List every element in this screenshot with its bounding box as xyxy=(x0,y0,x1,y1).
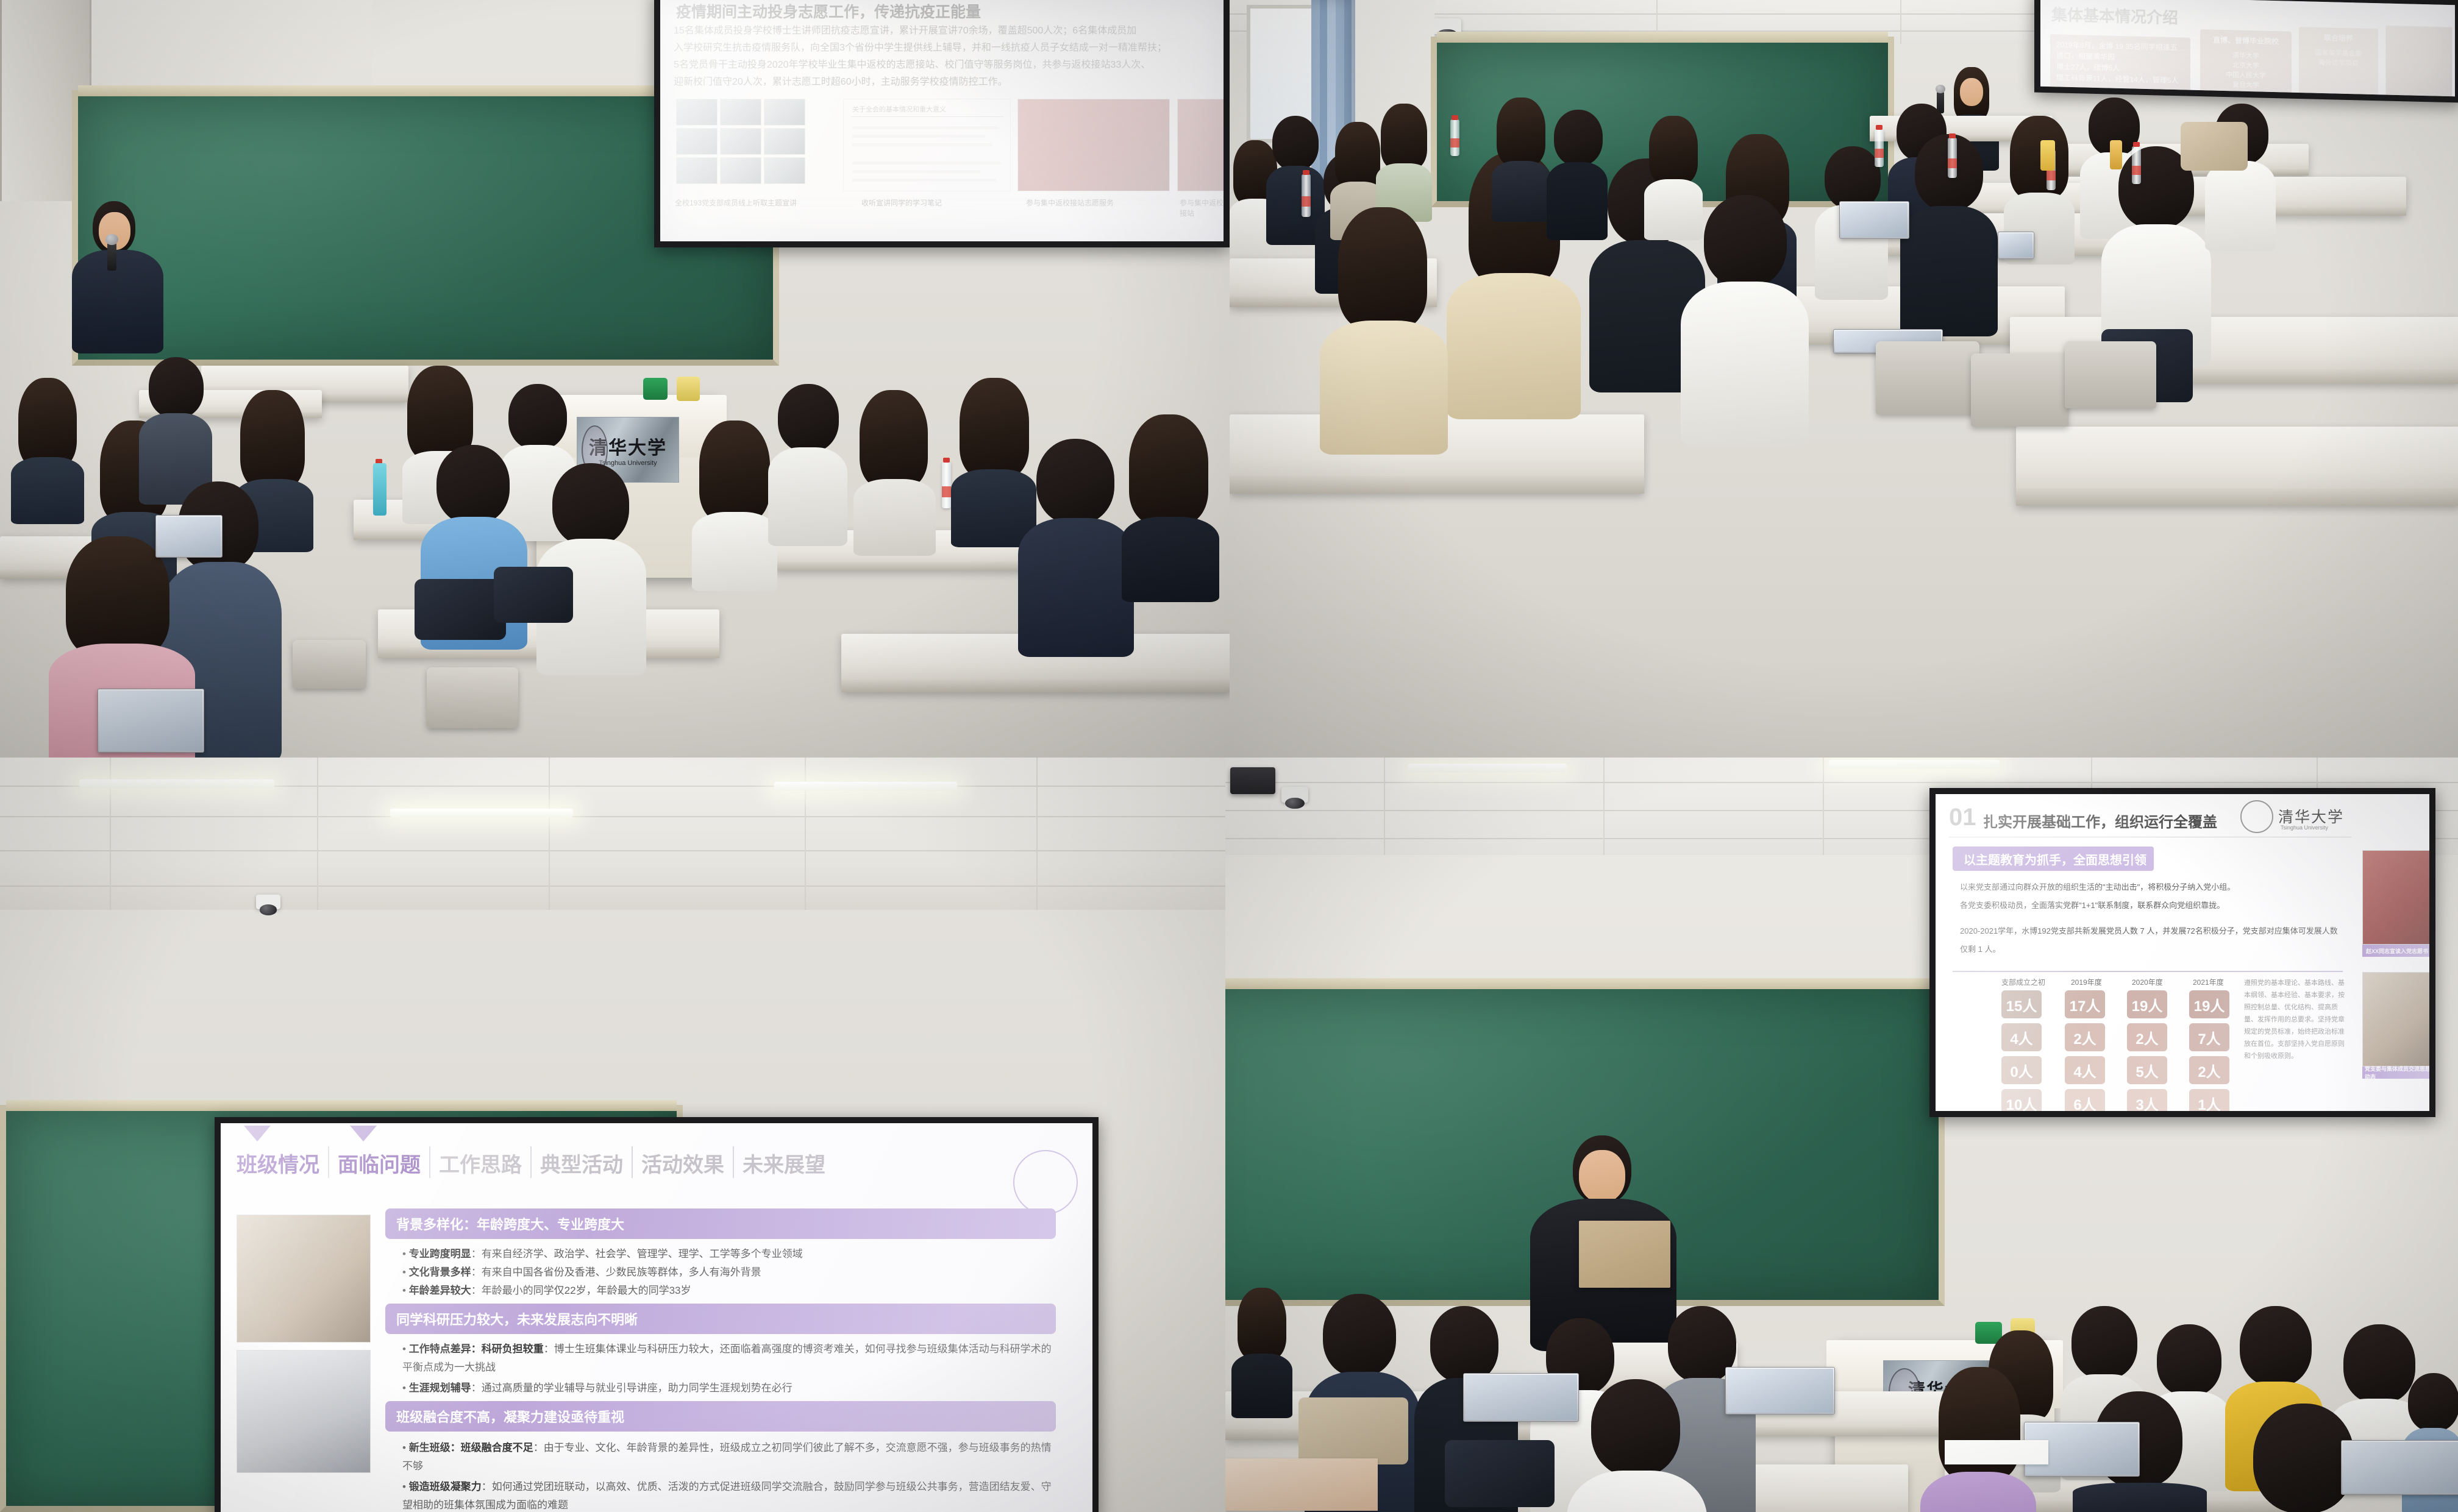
panel-top-left: 疫情期间主动投身志愿工作，传递抗疫正能量 15名集体成员投身学校博士生讲师团抗疫… xyxy=(0,0,1230,758)
backpack xyxy=(415,579,506,640)
photo-caption-band: 党支委与集体成员交流思想动态 xyxy=(2362,1067,2429,1079)
section-band: 背景多样化：年龄跨度大、专业跨度大 xyxy=(385,1209,1056,1239)
stat-cell: 2人 xyxy=(2065,1023,2105,1051)
laptop xyxy=(1463,1373,1579,1422)
slide-side-text: 遵照党的基本理论、基本路线、基本纲领、基本经验、基本要求，按照控制总量、优化结构… xyxy=(2244,977,2348,1062)
section-bullet: • 新生班级：班级融合度不足：由于专业、文化、年龄背景的差异性，班级成立之初同学… xyxy=(402,1439,1061,1475)
slide-bullet: 各党支委积极动员，全面落实党群"1+1"联系制度，联系群众向党组织靠拢。 xyxy=(1960,899,2338,910)
slide-paragraph-4: 迎新校门值守20人次，累计志愿工时超60小时，主动服务学校疫情防控工作。 xyxy=(674,73,1222,88)
stat-cell: 7人 xyxy=(2189,1023,2229,1051)
panel-bottom-right: 01 扎实开展基础工作，组织运行全覆盖 清华大学 Tsinghua Univer… xyxy=(1225,758,2458,1512)
backpack xyxy=(494,567,573,623)
audience-member xyxy=(692,421,777,585)
section-bullet: • 工作特点差异：科研负担较重：博士生班集体课业与科研压力较大，还面临着高强度的… xyxy=(402,1340,1061,1377)
projection-screen: 集体基本情况介绍 2019年8月，金博 19 35名同学相逢五 道口，相聚清华园… xyxy=(2040,0,2455,96)
stat-cell: 19人 xyxy=(2189,990,2229,1018)
audience-member xyxy=(1920,1367,2036,1512)
projection-screen: 疫情期间主动投身志愿工作，传递抗疫正能量 15名集体成员投身学校博士生讲师团抗疫… xyxy=(660,0,1224,241)
slide-photo xyxy=(237,1350,371,1473)
chair xyxy=(1971,353,2068,427)
audience-member xyxy=(768,384,847,542)
chair xyxy=(1876,341,1979,414)
nav-item-activity-effects[interactable]: 活动效果 xyxy=(633,1148,733,1178)
reading-folder xyxy=(1579,1221,1670,1288)
projection-screen-frame: 集体基本情况介绍 2019年8月，金博 19 35名同学相逢五 道口，相聚清华园… xyxy=(2034,0,2458,103)
water-bottle xyxy=(1450,119,1459,156)
ceiling-light xyxy=(1829,760,2000,768)
slide-photo xyxy=(237,1215,371,1343)
nav-item-typical-activities[interactable]: 典型活动 xyxy=(532,1148,632,1178)
ceiling-light xyxy=(1408,764,1567,772)
audience-member xyxy=(1320,207,1448,451)
slide-photo-grid xyxy=(720,99,761,126)
slide-photo-grid xyxy=(764,157,805,184)
handbag xyxy=(2181,122,2248,171)
printed-poster xyxy=(1225,1458,1378,1511)
slide-title: 疫情期间主动投身志愿工作，传递抗疫正能量 xyxy=(676,0,981,22)
panel-top-right: 集体基本情况介绍 2019年8月，金博 19 35名同学相逢五 道口，相聚清华园… xyxy=(1230,0,2458,758)
slide-caption: 参与集中返校接站志愿服务 xyxy=(1026,197,1114,208)
ceiling-light xyxy=(390,809,573,817)
stat-cell: 4人 xyxy=(2065,1056,2105,1084)
stat-cell: 15人 xyxy=(2001,990,2042,1018)
section-bullet: • 生涯规划辅导：通过高质量的学业辅导与就业引导讲座，助力同学生涯规划势在必行 xyxy=(402,1379,1061,1394)
slide-caption: 参与集中返校接站 xyxy=(1180,197,1224,218)
slide-card-item: 国家留学基金委 xyxy=(2305,47,2372,59)
slide-photo xyxy=(2362,972,2429,1067)
slide-caption: 收听宣讲同学的学习笔记 xyxy=(861,197,942,208)
chair xyxy=(427,667,518,728)
slide-number: 01 xyxy=(1949,804,1976,831)
audience-member xyxy=(1231,1288,1292,1416)
section-band: 以主题教育为抓手，全面思想引领 xyxy=(1953,847,2154,871)
chair xyxy=(293,640,366,689)
slide-paragraph-3: 5名党员骨干主动投身2020年学校毕业生集中返校的志愿接站、校门值守等服务岗位，… xyxy=(674,56,1222,71)
slide-photo-grid xyxy=(676,99,718,126)
section-band: 同学科研压力较大，未来发展志向不明晰 xyxy=(385,1304,1056,1334)
audience-member xyxy=(1018,439,1134,652)
stat-cell: 0人 xyxy=(2001,1056,2042,1084)
panel-bottom-left: 班级情况 面临问题 工作思路 典型活动 活动效果 未来展望 xyxy=(0,758,1225,1512)
laptop xyxy=(1839,201,1909,239)
slide-bullet: 2020-2021学年，水博192党支部共新发展党员人数 7 人，并发展72名积… xyxy=(1960,922,2344,959)
section-bullet: • 专业跨度明显：有来自经济学、政治学、社会学、管理学、理学、工学等多个专业领域 xyxy=(402,1245,803,1260)
student-desk xyxy=(2016,427,2458,506)
slide-bottom-left: 班级情况 面临问题 工作思路 典型活动 活动效果 未来展望 xyxy=(221,1123,1092,1512)
slide-caption: 全校193党支部成员线上听取主题宣讲 xyxy=(675,197,797,208)
microphone xyxy=(107,243,116,271)
projection-screen: 01 扎实开展基础工作，组织运行全覆盖 清华大学 Tsinghua Univer… xyxy=(1936,794,2429,1111)
table-column-header: 支部成立之初 xyxy=(2001,977,2045,987)
section-bullet: • 锻造班级凝聚力：如何通过党团班联动，以高效、优质、活泼的方式促进班级同学交流… xyxy=(402,1478,1061,1512)
slide-title: 扎实开展基础工作，组织运行全覆盖 xyxy=(1983,810,2217,831)
ceiling-speaker xyxy=(1230,767,1275,794)
stat-cell: 6人 xyxy=(2065,1089,2105,1111)
laptop xyxy=(98,689,204,753)
water-bottle xyxy=(2132,146,2141,184)
projection-screen: 班级情况 面临问题 工作思路 典型活动 活动效果 未来展望 xyxy=(221,1123,1092,1512)
stat-cell: 4人 xyxy=(2001,1023,2042,1051)
audience-member xyxy=(1567,1379,1707,1512)
photo-caption-band: 赵XX同志宣读入党志愿书 xyxy=(2362,945,2429,957)
slide-card-heading: 直博、普博毕业院校 xyxy=(2206,34,2285,46)
slide-nav: 班级情况 面临问题 工作思路 典型活动 活动效果 未来展望 xyxy=(237,1146,834,1178)
laptop xyxy=(1725,1367,1835,1414)
stat-cell: 5人 xyxy=(2127,1056,2167,1084)
handbag xyxy=(1298,1397,1408,1464)
section-bullet: • 文化背景多样：有来自中国各省份及香港、少数民族等群体，多人有海外背景 xyxy=(402,1263,761,1279)
slide-photo xyxy=(2385,26,2453,97)
nav-marker xyxy=(350,1126,377,1141)
speaker-person xyxy=(72,201,169,353)
slide-photo-group-volunteers xyxy=(1017,99,1170,191)
audience-member xyxy=(1122,414,1219,597)
projection-screen-frame: 疫情期间主动投身志愿工作，传递抗疫正能量 15名集体成员投身学校博士生讲师团抗疫… xyxy=(654,0,1230,247)
slide-photo-station xyxy=(1177,99,1224,191)
audience-member xyxy=(1492,98,1550,219)
laptop xyxy=(155,515,223,558)
slide-photo-grid xyxy=(676,157,718,184)
photo-collage: 疫情期间主动投身志愿工作，传递抗疫正能量 15名集体成员投身学校博士生讲师团抗疫… xyxy=(0,0,2458,1512)
slide-paragraph-1: 15名集体成员投身学校博士生讲师团抗疫志愿宣讲，累计开展宣讲70余场，覆盖超50… xyxy=(674,22,1222,37)
stat-cell: 19人 xyxy=(2127,990,2167,1018)
water-bottle xyxy=(1302,174,1311,217)
papers xyxy=(1945,1440,2048,1464)
slide-inset-title: 关于全会的基本情况和重大意义 xyxy=(852,104,946,114)
nav-item-future-outlook[interactable]: 未来展望 xyxy=(734,1148,834,1178)
audience-member xyxy=(853,390,936,552)
section-bullet: • 年龄差异较大：年龄最小的同学仅22岁，年龄最大的同学33岁 xyxy=(402,1282,691,1297)
slide-card-bullet: 理工科背景11人，经管14人，管理5人 xyxy=(2056,72,2184,86)
slide-bullet: 以来党支部通过向群众开放的组织生活的"主动出击"，将积极分子纳入党小组。 xyxy=(1960,881,2338,892)
laptop xyxy=(1998,232,2034,259)
ceiling-light xyxy=(774,782,957,790)
water-bottle xyxy=(1875,129,1884,167)
table-column-header: 2020年度 xyxy=(2132,977,2163,987)
laptop xyxy=(2341,1440,2458,1495)
table-column-header: 2021年度 xyxy=(2193,977,2224,987)
nav-item-work-approach[interactable]: 工作思路 xyxy=(430,1148,530,1178)
tsinghua-logo-icon xyxy=(2240,800,2273,833)
slide-card-item: 复旦大学 xyxy=(2206,79,2285,90)
stat-cell: 1人 xyxy=(2189,1089,2229,1111)
audience-member xyxy=(1376,104,1432,219)
audience-member xyxy=(1681,195,1809,445)
security-camera xyxy=(256,895,280,909)
slide-logo-en: Tsinghua University xyxy=(2281,825,2328,831)
chair xyxy=(2065,341,2156,408)
nav-item-class-situation[interactable]: 班级情况 xyxy=(237,1148,328,1178)
slide-title: 集体基本情况介绍 xyxy=(2051,2,2178,28)
projection-screen-frame: 01 扎实开展基础工作，组织运行全覆盖 清华大学 Tsinghua Univer… xyxy=(1929,788,2435,1117)
slide-photo xyxy=(2362,850,2429,945)
ceiling-light xyxy=(79,779,274,788)
stat-cell: 17人 xyxy=(2065,990,2105,1018)
security-camera xyxy=(1281,787,1308,803)
projection-screen-frame: 班级情况 面临问题 工作思路 典型活动 活动效果 未来展望 xyxy=(215,1117,1099,1512)
table-column-header: 2019年度 xyxy=(2071,977,2102,987)
nav-marker xyxy=(244,1126,271,1141)
stat-cell: 2人 xyxy=(2189,1056,2229,1084)
tsinghua-logo-icon xyxy=(1013,1150,1078,1215)
slide-photo-grid xyxy=(720,128,761,155)
water-bottle xyxy=(942,462,951,508)
slide-card-item: 海外访学项目 xyxy=(2305,57,2372,68)
slide-photo-grid xyxy=(764,128,805,155)
slide-top-left: 疫情期间主动投身志愿工作，传递抗疫正能量 15名集体成员投身学校博士生讲师团抗疫… xyxy=(660,0,1224,241)
slide-paragraph-2: 入学校研究生抗击疫情服务队，向全国3个省份中学生提供线上辅导，并和一线抗疫人员子… xyxy=(674,39,1222,54)
slide-photo-grid xyxy=(764,99,805,126)
backpack xyxy=(1445,1440,1555,1507)
nav-item-problems[interactable]: 面临问题 xyxy=(329,1148,429,1178)
slide-photo-grid xyxy=(676,128,718,155)
stat-cell: 3人 xyxy=(2127,1089,2167,1111)
slide-bottom-right: 01 扎实开展基础工作，组织运行全覆盖 清华大学 Tsinghua Univer… xyxy=(1936,794,2429,1111)
audience-member xyxy=(11,378,84,518)
slide-photo-grid xyxy=(720,157,761,184)
slide-logo-cn: 清华大学 xyxy=(2278,805,2344,827)
slide-top-right: 集体基本情况介绍 2019年8月，金博 19 35名同学相逢五 道口，相聚清华园… xyxy=(2040,0,2455,96)
stat-cell: 10人 xyxy=(2001,1089,2042,1111)
water-bottle xyxy=(1948,138,1957,178)
slide-card-heading: 联合培养 xyxy=(2305,32,2372,44)
stat-cell: 2人 xyxy=(2127,1023,2167,1051)
section-band: 班级融合度不高，凝聚力建设亟待重视 xyxy=(385,1401,1056,1432)
